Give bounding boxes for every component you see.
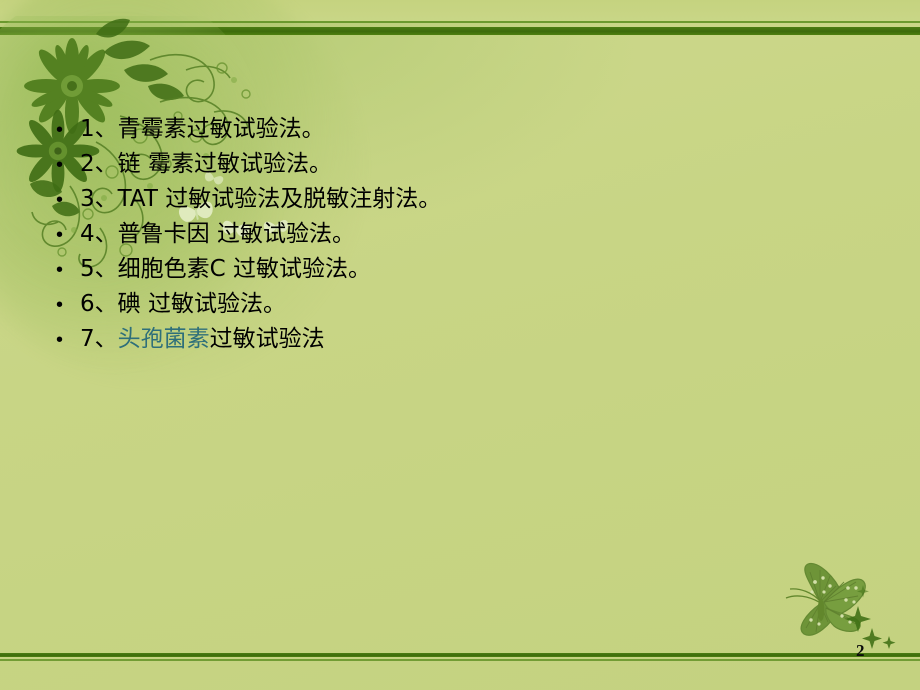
- list-item: • 3、TAT 过敏试验法及脱敏注射法。: [0, 182, 920, 217]
- bullet-marker: •: [56, 295, 80, 315]
- list-item-text: 4、普鲁卡因 过敏试验法。: [80, 217, 355, 252]
- bullet-marker: •: [56, 225, 80, 245]
- list-item-text-suffix: 过敏试验法: [210, 326, 325, 352]
- list-item-text: 3、TAT 过敏试验法及脱敏注射法。: [80, 182, 441, 217]
- list-item-text: 1、青霉素过敏试验法。: [80, 112, 325, 147]
- list-item: • 4、普鲁卡因 过敏试验法。: [0, 217, 920, 252]
- slide: • 1、青霉素过敏试验法。 • 2、链 霉素过敏试验法。 • 3、TAT 过敏试…: [0, 0, 920, 690]
- list-item-text: 7、头孢菌素过敏试验法: [80, 322, 325, 357]
- list-item-text-prefix: 7、: [80, 326, 118, 352]
- list-item: • 5、细胞色素C 过敏试验法。: [0, 252, 920, 287]
- footer-thick-rule: [0, 653, 920, 657]
- bullet-marker: •: [56, 330, 80, 350]
- bullet-marker: •: [56, 155, 80, 175]
- footer-thin-rule: [0, 659, 920, 661]
- header-thick-rule: [0, 27, 920, 35]
- list-item-text: 5、细胞色素C 过敏试验法。: [80, 252, 371, 287]
- bullet-list: • 1、青霉素过敏试验法。 • 2、链 霉素过敏试验法。 • 3、TAT 过敏试…: [0, 112, 920, 357]
- bullet-marker: •: [56, 260, 80, 280]
- list-item-text: 6、碘 过敏试验法。: [80, 287, 286, 322]
- bullet-marker: •: [56, 120, 80, 140]
- page-number: 2: [856, 641, 865, 661]
- list-item: • 6、碘 过敏试验法。: [0, 287, 920, 322]
- list-item: • 2、链 霉素过敏试验法。: [0, 147, 920, 182]
- list-item: • 1、青霉素过敏试验法。: [0, 112, 920, 147]
- list-item-text: 2、链 霉素过敏试验法。: [80, 147, 332, 182]
- header-thin-rule: [0, 21, 920, 23]
- list-item-highlighted: • 7、头孢菌素过敏试验法: [0, 322, 920, 357]
- list-item-text-highlight: 头孢菌素: [118, 326, 210, 352]
- bullet-marker: •: [56, 190, 80, 210]
